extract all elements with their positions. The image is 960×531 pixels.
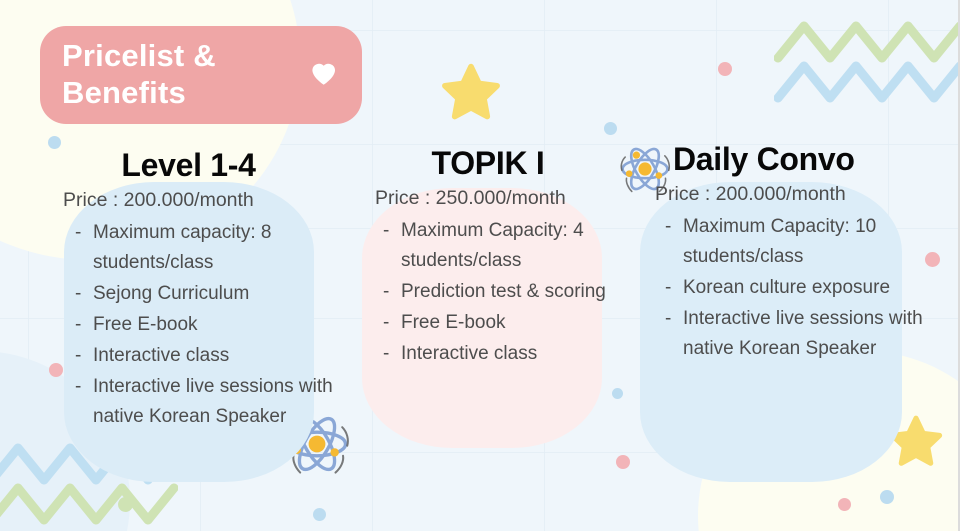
feature-list: Maximum capacity: 8 students/class Sejon…: [55, 218, 340, 432]
list-item: Interactive class: [73, 341, 340, 371]
list-item: Sejong Curriculum: [73, 279, 340, 309]
star-top-center: [440, 62, 502, 124]
list-item: Korean culture exposure: [663, 273, 930, 303]
column-title: Daily Convo: [645, 142, 930, 177]
zigzag-green-bottom-left: [0, 476, 178, 528]
feature-list: Maximum Capacity: 4 students/class Predi…: [363, 216, 613, 369]
list-item: Maximum capacity: 8 students/class: [73, 218, 340, 278]
column-title: Level 1-4: [55, 148, 340, 183]
column-price: Price : 200.000/month: [645, 181, 930, 207]
title-banner: Pricelist & Benefits: [40, 26, 362, 124]
decor-dot-pink: [616, 455, 630, 469]
zigzag-green-top-right: [774, 14, 958, 66]
list-item: Interactive class: [381, 339, 613, 369]
list-item: Prediction test & scoring: [381, 277, 613, 307]
decor-dot-blue: [604, 122, 617, 135]
grid-line-vertical: [28, 0, 29, 531]
list-item: Maximum Capacity: 4 students/class: [381, 216, 613, 276]
decor-dot-blue: [313, 508, 326, 521]
list-item: Free E-book: [73, 310, 340, 340]
page-title: Pricelist & Benefits: [62, 38, 300, 111]
column-price: Price : 200.000/month: [55, 187, 340, 213]
feature-list: Maximum Capacity: 10 students/class Kore…: [645, 212, 930, 364]
decor-dot-pink: [718, 62, 732, 76]
list-item: Interactive live sessions with native Ko…: [73, 372, 340, 432]
zigzag-blue-top-right: [774, 54, 958, 106]
heart-icon: [306, 55, 340, 89]
decor-dot-blue: [880, 490, 894, 504]
list-item: Maximum Capacity: 10 students/class: [663, 212, 930, 272]
list-item: Interactive live sessions with native Ko…: [663, 304, 930, 364]
pricelist-slide: Pricelist & Benefits Level 1-4 Price : 2…: [0, 0, 960, 531]
decor-dot-blue: [612, 388, 623, 399]
column-price: Price : 250.000/month: [363, 185, 613, 211]
decor-dot-pink: [838, 498, 851, 511]
pricing-column-level-1-4: Level 1-4 Price : 200.000/month Maximum …: [55, 148, 340, 433]
list-item: Free E-book: [381, 308, 613, 338]
pricing-column-topik-i: TOPIK I Price : 250.000/month Maximum Ca…: [363, 146, 613, 370]
column-title: TOPIK I: [363, 146, 613, 181]
decor-dot-green: [118, 497, 133, 512]
pricing-column-daily-convo: Daily Convo Price : 200.000/month Maximu…: [645, 142, 930, 365]
